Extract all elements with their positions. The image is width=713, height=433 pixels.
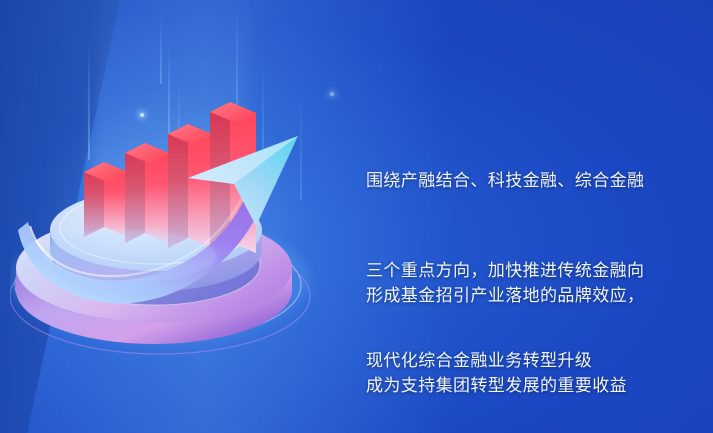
copy-line: 成为支持集团转型发展的重要收益 <box>366 371 644 401</box>
copy-line: 形成基金招引产业落地的品牌效应， <box>366 281 644 311</box>
sparkle-dot <box>330 92 334 96</box>
text-block-secondary: 形成基金招引产业落地的品牌效应， 成为支持集团转型发展的重要收益 来源和主业发展… <box>366 221 644 433</box>
bar-3 <box>168 124 214 249</box>
bar-1 <box>84 162 130 238</box>
growth-chart-illustration <box>10 80 330 360</box>
banner-canvas: 围绕产融结合、科技金融、综合金融 三个重点方向，加快推进传统金融向 现代化综合金… <box>0 0 713 433</box>
podium-light-wash <box>44 230 216 282</box>
copy-line: 围绕产融结合、科技金融、综合金融 <box>366 166 644 196</box>
bar-2 <box>125 143 171 244</box>
